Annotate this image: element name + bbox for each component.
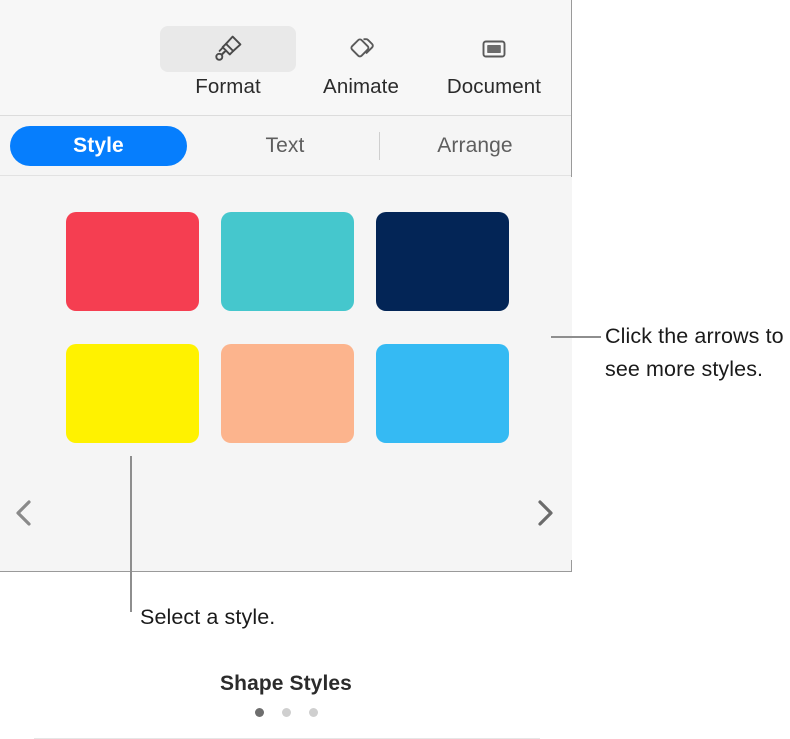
tool-tab-format[interactable]: Format — [156, 26, 300, 99]
callout-arrows-text: Click the arrows to see more styles. — [605, 320, 787, 386]
tab-style[interactable]: Style — [10, 126, 187, 166]
red-style-swatch[interactable] — [66, 212, 199, 311]
tab-text[interactable]: Text — [200, 126, 370, 166]
callout-arrows-leader-line — [551, 336, 601, 338]
segmented-divider — [379, 132, 380, 160]
slide-frame-icon — [426, 26, 562, 72]
shape-style-swatch-grid — [66, 212, 508, 443]
tool-tab-animate-label: Animate — [289, 75, 433, 99]
overlapping-diamonds-icon — [293, 26, 429, 72]
yellow-style-swatch[interactable] — [66, 344, 199, 443]
format-inspector-panel: Format Animate Document — [0, 0, 572, 572]
page-dot-3[interactable] — [309, 708, 318, 717]
tool-tab-document-label: Document — [422, 75, 566, 99]
shape-styles-label: Shape Styles — [0, 672, 572, 696]
tool-tab-format-label: Format — [156, 75, 300, 99]
style-text-arrange-segmented-control: Style Text Arrange — [0, 116, 571, 176]
chevron-left-icon[interactable] — [6, 490, 42, 536]
paintbrush-icon — [160, 26, 296, 72]
page-dot-2[interactable] — [282, 708, 291, 717]
chevron-right-icon[interactable] — [527, 490, 563, 536]
shape-styles-area: Shape Styles — [0, 177, 572, 560]
teal-style-swatch[interactable] — [221, 212, 354, 311]
light-blue-style-swatch[interactable] — [376, 344, 509, 443]
tool-tab-animate[interactable]: Animate — [289, 26, 433, 99]
callout-select-style-text: Select a style. — [140, 602, 275, 632]
peach-style-swatch[interactable] — [221, 344, 354, 443]
navy-style-swatch[interactable] — [376, 212, 509, 311]
page-dot-1[interactable] — [255, 708, 264, 717]
tool-tab-document[interactable]: Document — [422, 26, 566, 99]
callout-select-style-leader-line — [130, 456, 132, 612]
tab-arrange[interactable]: Arrange — [390, 126, 560, 166]
style-page-dots — [0, 708, 572, 717]
inspector-tool-tabs: Format Animate Document — [0, 0, 571, 116]
